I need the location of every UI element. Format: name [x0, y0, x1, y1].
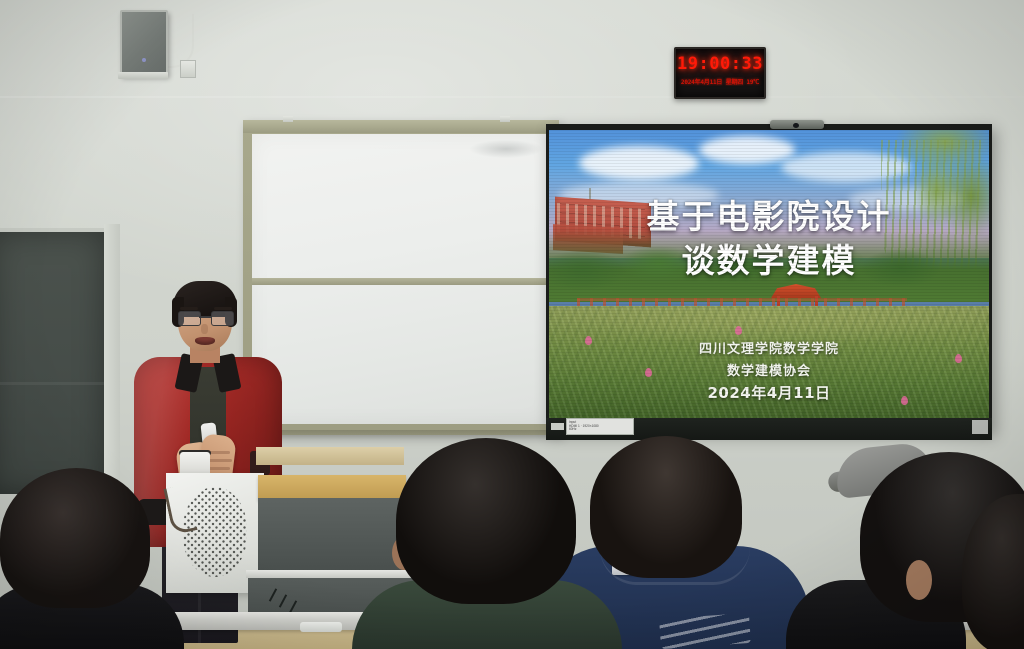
lectern-top-surface — [256, 447, 404, 465]
whiteboard-clip-left — [283, 116, 293, 122]
audience-head — [590, 436, 742, 578]
wall-seam — [0, 96, 1024, 98]
slide-subtitle-date: 2024年4月11日 — [549, 382, 989, 403]
osd-line: 60Hz — [569, 428, 631, 432]
presenter-eyebrow-right — [214, 307, 232, 310]
presenter-mouth — [195, 337, 215, 345]
slide-lotus-flower — [735, 326, 742, 335]
slide-subtitle-organization: 四川文理学院数学学院 — [549, 338, 989, 357]
digital-wall-clock: 19:00:33 2024年4月11日 星期四 19℃ — [674, 47, 766, 99]
whiteboard-divider-bar — [252, 278, 550, 285]
speaker-body — [120, 10, 168, 76]
lectern-body — [258, 498, 406, 578]
speaker-junction-box — [180, 60, 196, 78]
chalkboard — [0, 228, 108, 494]
display-osd-popup: Input HDMI 1 · 1920×1080 60Hz — [566, 418, 634, 435]
glasses-bridge — [199, 316, 211, 318]
whiteboard-shadow — [247, 430, 559, 440]
speaker-base — [118, 72, 168, 79]
display-menu-button[interactable] — [551, 423, 564, 430]
lectern-vent-slash — [279, 594, 287, 607]
wall-speaker — [118, 10, 170, 78]
whiteboard-clip-right — [500, 116, 510, 122]
slide-cloud — [699, 136, 795, 164]
clock-time-display: 19:00:33 — [676, 54, 764, 74]
slide-cloud — [579, 146, 699, 180]
audience-head — [396, 438, 576, 604]
glasses-lens-right — [211, 311, 234, 326]
wall-pillar — [104, 224, 120, 494]
presenter-nose — [201, 324, 208, 334]
speaker-led-icon — [142, 58, 146, 62]
audience-ear — [906, 560, 932, 600]
glasses-lens-left — [178, 311, 201, 326]
slide-title-line2: 谈数学建模 — [549, 234, 989, 282]
speaker-wire — [174, 18, 196, 66]
lecture-hall-photo: 19:00:33 2024年4月11日 星期四 19℃ — [0, 0, 1024, 649]
led-display-screen[interactable]: 基于电影院设计 谈数学建模 四川文理学院数学学院 数学建模协会 2024年4月1… — [549, 130, 989, 418]
whiteboard-smudge — [470, 140, 542, 158]
clock-date-display: 2024年4月11日 星期四 19℃ — [676, 77, 764, 86]
display-corner-indicator — [972, 420, 988, 434]
glasses-icon — [178, 311, 233, 324]
pa-speaker-grill — [183, 487, 247, 577]
slide-subtitle-association: 数学建模协会 — [549, 360, 989, 379]
slide-title-line1: 基于电影院设计 — [549, 190, 989, 238]
lectern-edge-trim — [246, 570, 418, 578]
presenter-eyebrow-left — [180, 307, 198, 310]
hoodie-print-text — [659, 613, 751, 649]
lectern-wood-panel — [258, 475, 406, 500]
audience-head — [0, 468, 150, 608]
lectern-vent-slash — [269, 588, 277, 601]
desk-handle[interactable] — [300, 622, 342, 632]
camera-lens-icon — [793, 123, 799, 128]
